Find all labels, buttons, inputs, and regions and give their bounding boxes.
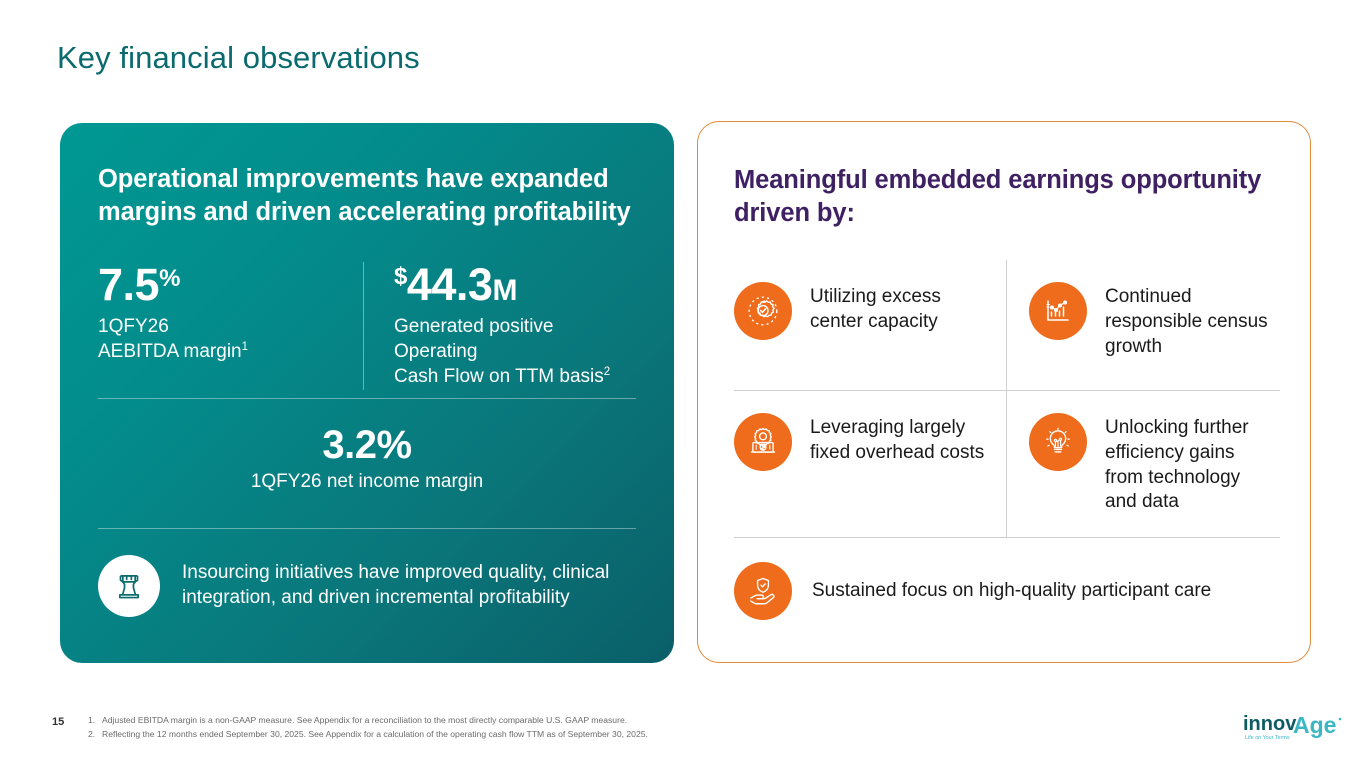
opportunity-text: Continued responsible census growth — [1105, 282, 1268, 359]
footnote-2: 2.Reflecting the 12 months ended Septemb… — [88, 728, 648, 742]
logo-text-age: Age — [1293, 712, 1336, 738]
stat-aebitda-margin: 7.5% 1QFY26 AEBITDA margin1 — [98, 262, 363, 364]
footnotes-block: 1.Adjusted EBITDA margin is a non-GAAP m… — [88, 714, 648, 741]
stats-row: 7.5% 1QFY26 AEBITDA margin1 $44.3M Gener… — [98, 262, 636, 389]
stat-net-income-margin: 3.2% 1QFY26 net income margin — [98, 425, 636, 494]
insourcing-text: Insourcing initiatives have improved qua… — [182, 561, 636, 610]
divider-upper — [98, 398, 636, 399]
page-number: 15 — [52, 716, 64, 728]
logo-tagline: Life on Your Terms — [1245, 735, 1290, 741]
stat-label-ocf: Generated positive Operating Cash Flow o… — [394, 314, 636, 389]
percent-symbol: % — [159, 265, 180, 292]
hand-shield-icon — [734, 562, 792, 620]
footnote-text: Reflecting the 12 months ended September… — [102, 729, 648, 739]
left-card-heading: Operational improvements have expanded m… — [98, 163, 636, 229]
opportunity-text: Unlocking further efficiency gains from … — [1105, 413, 1268, 515]
footnote-number: 1. — [88, 714, 102, 728]
stat-value-net-income: 3.2% — [98, 425, 636, 465]
dollar-symbol: $ — [394, 263, 407, 290]
stat-number: 7.5 — [98, 259, 159, 310]
money-gear-icon — [734, 413, 792, 471]
insourcing-callout: Insourcing initiatives have improved qua… — [98, 555, 636, 617]
opportunity-row-1: Utilizing excess center capacity — [734, 260, 1280, 391]
footnote-number: 2. — [88, 728, 102, 742]
opportunity-text: Utilizing excess center capacity — [810, 282, 988, 334]
stat-value-ocf: $44.3M — [394, 262, 636, 307]
logo-registered-mark — [1339, 718, 1342, 721]
opportunity-item-technology-data: Unlocking further efficiency gains from … — [1007, 391, 1280, 537]
stat-label-line1: Generated positive Operating — [394, 316, 554, 362]
stat-label-net-income: 1QFY26 net income margin — [98, 469, 636, 494]
right-opportunity-card: Meaningful embedded earnings opportunity… — [697, 121, 1311, 663]
opportunity-row-2: Leveraging largely fixed overhead costs — [734, 391, 1280, 537]
millions-symbol: M — [492, 274, 517, 307]
footnote-marker-2: 2 — [604, 366, 610, 378]
left-metrics-card: Operational improvements have expanded m… — [60, 123, 674, 663]
opportunity-item-center-capacity: Utilizing excess center capacity — [734, 260, 1007, 390]
chess-rook-icon — [98, 555, 160, 617]
footnote-marker-1: 1 — [242, 341, 248, 353]
opportunity-item-census-growth: Continued responsible census growth — [1007, 260, 1280, 390]
gear-check-icon — [734, 282, 792, 340]
logo-text-innov: innov — [1243, 713, 1297, 735]
innovage-logo: innov Age Life on Your Terms — [1243, 710, 1347, 744]
opportunity-item-participant-care: Sustained focus on high-quality particip… — [734, 537, 1280, 620]
stat-operating-cash-flow: $44.3M Generated positive Operating Cash… — [363, 262, 636, 389]
opportunity-text: Leveraging largely fixed overhead costs — [810, 413, 988, 465]
page-title: Key financial observations — [57, 40, 420, 76]
stat-label-line2: AEBITDA margin — [98, 341, 242, 362]
lightbulb-tech-icon — [1029, 413, 1087, 471]
stat-number: 44.3 — [407, 259, 493, 310]
opportunity-grid: Utilizing excess center capacity — [734, 260, 1280, 620]
stat-label-aebitda: 1QFY26 AEBITDA margin1 — [98, 314, 349, 364]
stat-value-aebitda: 7.5% — [98, 262, 349, 307]
footnote-1: 1.Adjusted EBITDA margin is a non-GAAP m… — [88, 714, 648, 728]
stat-label-line1: 1QFY26 — [98, 316, 169, 337]
right-card-heading: Meaningful embedded earnings opportunity… — [734, 164, 1280, 230]
footnote-text: Adjusted EBITDA margin is a non-GAAP mea… — [102, 715, 627, 725]
stat-label-line2: Cash Flow on TTM basis — [394, 366, 604, 387]
divider-lower — [98, 528, 636, 529]
bar-chart-growth-icon — [1029, 282, 1087, 340]
opportunity-item-overhead-costs: Leveraging largely fixed overhead costs — [734, 391, 1007, 537]
opportunity-text: Sustained focus on high-quality particip… — [812, 579, 1211, 604]
slide-root: Key financial observations Operational i… — [0, 0, 1365, 768]
